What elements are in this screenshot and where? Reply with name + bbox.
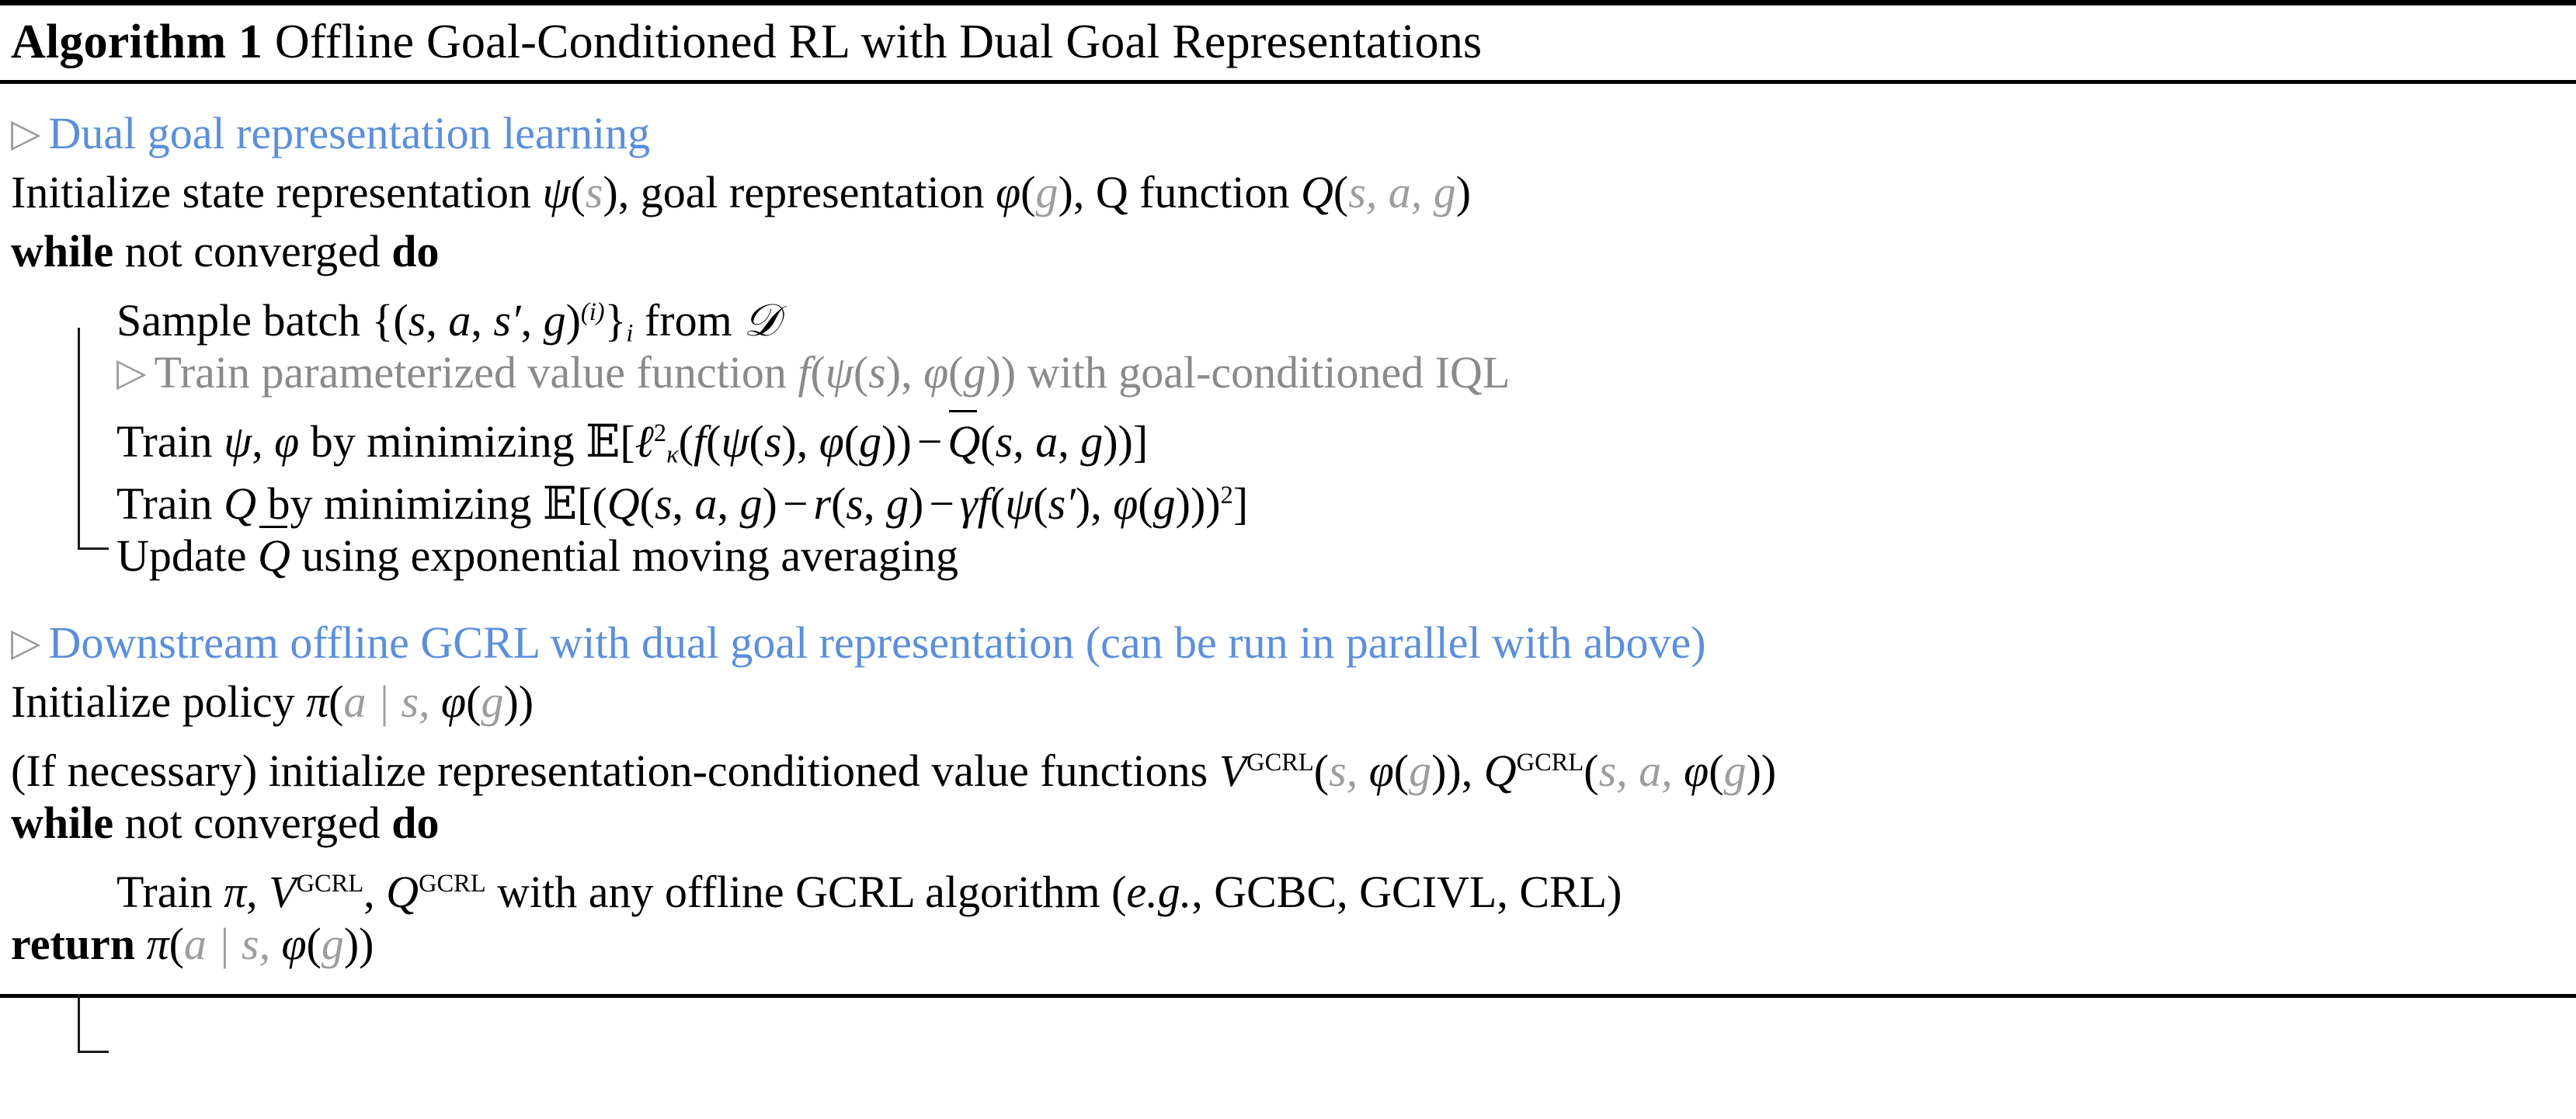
eg-text: e.g. [1126,867,1191,917]
sym-psi-2: ψ [826,347,853,398]
comment-text-train-value-tail: with goal-conditioned IQL [1027,347,1510,398]
arg-a-4: a [695,478,718,529]
sym-pi-3: π [147,919,169,969]
arg-g-11: g [1409,745,1431,796]
sym-mid-1: | [377,676,390,727]
line-train-q: Train Q by minimizing 𝔼[(Q(s, a, g)−r(s,… [0,464,2576,526]
if-necessary-text: (If necessary) initialize representation… [11,745,1208,796]
keyword-do-2: do [391,798,439,848]
sym-expectation-2: 𝔼 [543,477,577,530]
by-minimizing-2: by minimizing [267,478,531,529]
algorithm-block: Algorithm 1 Offline Goal-Conditioned RL … [0,0,2576,998]
keyword-while-2: while [11,798,113,848]
superscript-gcrl-1: GCRL [1246,749,1314,777]
arg-g-12: g [1724,745,1747,796]
algorithm-caption: Algorithm 1 Offline Goal-Conditioned RL … [0,5,2576,80]
minus-3: − [923,478,960,529]
sym-Q-1: Q [1301,167,1333,217]
using-ema-text: using exponential moving averaging [301,530,958,581]
sym-phi-6: φ [441,676,466,727]
line-comment-train-value: ▷Train parameterized value function f(ψ(… [0,343,2576,402]
line-initialize-value-functions: (If necessary) initialize representation… [0,732,2576,794]
train-text-2: Train [116,478,213,529]
superscript-2a: 2 [654,419,666,447]
arg-g-2: g [1434,167,1456,217]
condition-1: not converged [125,226,381,276]
minus-2: − [777,478,814,529]
with-any-offline-text: with any offline GCRL algorithm ( [497,867,1126,917]
condition-2: not converged [125,798,381,848]
line-while-1: while not converged do [0,222,2576,281]
line-sample-batch: Sample batch {(s, a, s′, g)(i)}i from 𝒟 [0,281,2576,343]
top-rule [0,0,2576,5]
line-initialize-policy: Initialize policy π(a | s, φ(g)) [0,672,2576,732]
sym-Q-3: Q [607,478,640,529]
sym-pi-2: π [224,867,246,917]
arg-g-5: g [859,416,881,467]
comment-triangle-icon: ▷ [11,111,48,155]
arg-s-12: s [242,919,259,969]
arg-a-3: a [1035,416,1058,467]
arg-s-7: s [655,478,673,529]
sym-mid-2: | [217,919,230,969]
superscript-gcrl-3: GCRL [297,870,364,898]
sym-Q-4: Q [1484,745,1517,796]
sym-phi-8: φ [1684,745,1709,796]
sym-a-2: a [448,295,471,346]
init-state-text: Initialize state representation [11,167,531,217]
line-while-2: while not converged do [0,794,2576,853]
minus-1: − [912,416,948,467]
sym-ell: ℓ [635,416,654,467]
arg-g-8: g [886,478,909,529]
sym-sprime-1: s′ [493,295,520,346]
sym-f-2: f [694,416,706,467]
comment-triangle-icon-3: ▷ [11,620,48,664]
line-return-policy: return π(a | s, φ(g)) [0,915,2576,974]
arg-a-5: a [343,676,366,727]
sym-V-2: V [269,867,296,917]
line-comment-dual-goal: ▷Dual goal representation learning [0,104,2576,163]
from-text: from [645,295,732,346]
keyword-while-1: while [11,226,113,276]
bottom-rule [0,994,2576,998]
update-text: Update [116,530,247,581]
arg-g-7: g [740,478,763,529]
arg-s-4: s [868,347,886,398]
arg-g-6: g [1080,416,1103,467]
sym-psi-3: ψ [224,416,252,467]
train-text-3: Train [116,867,213,917]
arg-g-10: g [481,676,503,727]
block-spacer [0,586,2576,613]
algorithm-body: ▷Dual goal representation learning Initi… [0,84,2576,994]
arg-a-6: a [1639,745,1661,796]
arg-s-5: s [764,416,782,467]
line-update-q-target: Update Q using exponential moving averag… [0,526,2576,586]
by-minimizing-1: by minimizing [311,416,575,467]
sym-Q-5: Q [386,867,419,917]
arg-g-4: g [963,347,986,398]
arg-s-9: s [401,676,419,727]
sym-f-3: f [978,478,990,529]
indent-guide-2 [78,994,80,1053]
comment-text-dual-goal: Dual goal representation learning [48,108,650,158]
arg-g-9: g [1153,478,1176,529]
arg-a-1: a [1389,167,1411,217]
sym-phi-1: φ [996,167,1020,217]
keyword-return: return [11,919,135,969]
comment-text-downstream: Downstream offline GCRL with dual goal r… [48,617,1705,668]
sym-Q-bar-2: Q [258,526,290,586]
sym-psi-4: ψ [721,416,749,467]
sym-g-3: g [544,295,566,346]
line-initialize-representations: Initialize state representation ψ(s), go… [0,163,2576,222]
sym-r: r [814,478,832,529]
sym-phi-9: φ [281,919,306,969]
init-q-text: , Q function [1073,167,1290,217]
line-comment-downstream: ▷Downstream offline GCRL with dual goal … [0,613,2576,672]
sym-psi-5: ψ [1005,478,1033,529]
arg-s-8: s [846,478,864,529]
initialize-policy-text: Initialize policy [11,676,295,727]
sym-phi-7: φ [1369,745,1394,796]
sym-phi-4: φ [819,416,844,467]
sym-gamma: γ [960,478,978,529]
keyword-do-1: do [391,226,439,276]
arg-g-13: g [322,919,344,969]
arg-sprime-2: s′ [1048,478,1076,529]
comment-text-train-value: Train parameterized value function [154,347,786,398]
superscript-gcrl-2: GCRL [1517,749,1584,777]
train-text-1: Train [116,416,213,467]
algos-text: , GCBC, GCIVL, CRL) [1191,867,1622,917]
sym-psi: ψ [542,167,570,217]
sym-f-1: f [798,347,810,398]
arg-s-6: s [996,416,1013,467]
sym-dataset: 𝒟 [743,294,779,346]
algorithm-title: Offline Goal-Conditioned RL with Dual Go… [275,16,1482,68]
arg-s-1: s [586,167,603,217]
sample-batch-text: Sample batch [116,295,360,346]
sym-pi-1: π [306,676,329,727]
arg-s-2: s [1348,167,1366,217]
comment-triangle-icon-2: ▷ [116,350,154,394]
sym-expectation-1: 𝔼 [586,415,620,467]
sym-phi-5: φ [1113,478,1138,529]
superscript-2b: 2 [1221,481,1233,509]
line-train-psi-phi: Train ψ, φ by minimizing 𝔼[ℓ2κ(f(ψ(s), φ… [0,402,2576,464]
sym-phi-3: φ [274,416,299,467]
sym-phi-2: φ [923,347,948,398]
arg-a-7: a [184,919,207,969]
arg-s-11: s [1599,745,1617,796]
sym-V-1: V [1219,745,1246,796]
init-goal-text: , goal representation [618,167,985,217]
superscript-gcrl-4: GCRL [419,870,486,898]
line-train-policy: Train π, VGCRL, QGCRL with any offline G… [0,853,2576,915]
sym-s-3: s [408,295,426,346]
superscript-i: (i) [581,298,605,326]
algorithm-label: Algorithm 1 [11,16,262,68]
arg-s-10: s [1329,745,1347,796]
sym-Q-2: Q [224,478,256,529]
arg-g-1: g [1035,167,1058,217]
